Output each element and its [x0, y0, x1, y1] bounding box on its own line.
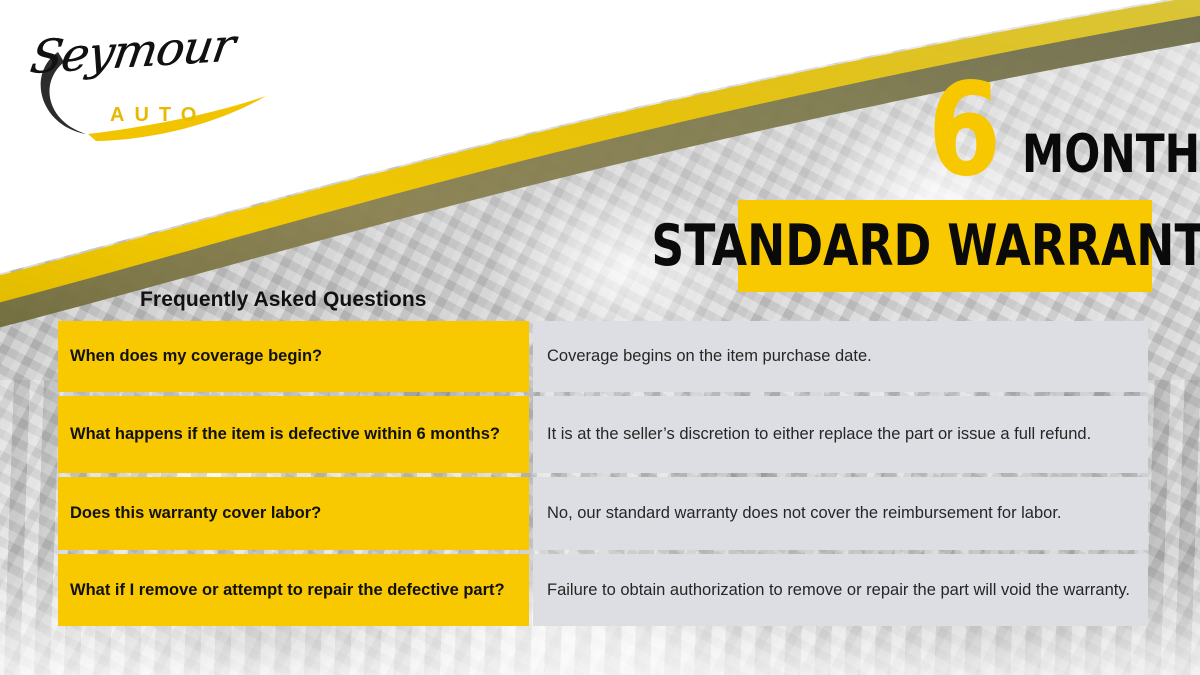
faq-question-text: When does my coverage begin? [70, 346, 322, 367]
faq-question-cell: Does this warranty cover labor? [58, 477, 529, 550]
faq-question-text: What happens if the item is defective wi… [70, 424, 500, 445]
duration-unit: MONTH [1022, 128, 1200, 181]
faq-table: When does my coverage begin? Coverage be… [58, 321, 1148, 626]
logo-subtext: AUTO [110, 104, 206, 127]
seymour-auto-logo: Seymour AUTO [18, 22, 288, 132]
faq-question-cell: What happens if the item is defective wi… [58, 396, 529, 473]
faq-question-cell: When does my coverage begin? [58, 321, 529, 392]
faq-heading: Frequently Asked Questions [140, 288, 427, 312]
duration-number: 6 [928, 72, 999, 190]
faq-answer-text: It is at the seller’s discretion to eith… [547, 423, 1134, 446]
faq-answer-text: No, our standard warranty does not cover… [547, 502, 1134, 525]
table-row: Does this warranty cover labor? No, our … [58, 477, 1148, 550]
table-row: What happens if the item is defective wi… [58, 396, 1148, 473]
faq-question-cell: What if I remove or attempt to repair th… [58, 554, 529, 626]
faq-answer-cell: Failure to obtain authorization to remov… [533, 554, 1148, 626]
table-row: When does my coverage begin? Coverage be… [58, 321, 1148, 392]
standard-warranty-title: STANDARD WARRANTY [651, 218, 1200, 275]
faq-question-text: Does this warranty cover labor? [70, 503, 321, 524]
table-row: What if I remove or attempt to repair th… [58, 554, 1148, 626]
warranty-slide: Seymour AUTO 6 MONTH STANDARD WARRANTY F… [0, 0, 1200, 675]
faq-answer-cell: It is at the seller’s discretion to eith… [533, 396, 1148, 473]
faq-question-text: What if I remove or attempt to repair th… [70, 580, 505, 601]
faq-answer-cell: Coverage begins on the item purchase dat… [533, 321, 1148, 392]
faq-answer-text: Failure to obtain authorization to remov… [547, 579, 1134, 602]
faq-answer-text: Coverage begins on the item purchase dat… [547, 345, 1134, 368]
standard-warranty-banner: STANDARD WARRANTY [738, 200, 1152, 292]
faq-answer-cell: No, our standard warranty does not cover… [533, 477, 1148, 550]
